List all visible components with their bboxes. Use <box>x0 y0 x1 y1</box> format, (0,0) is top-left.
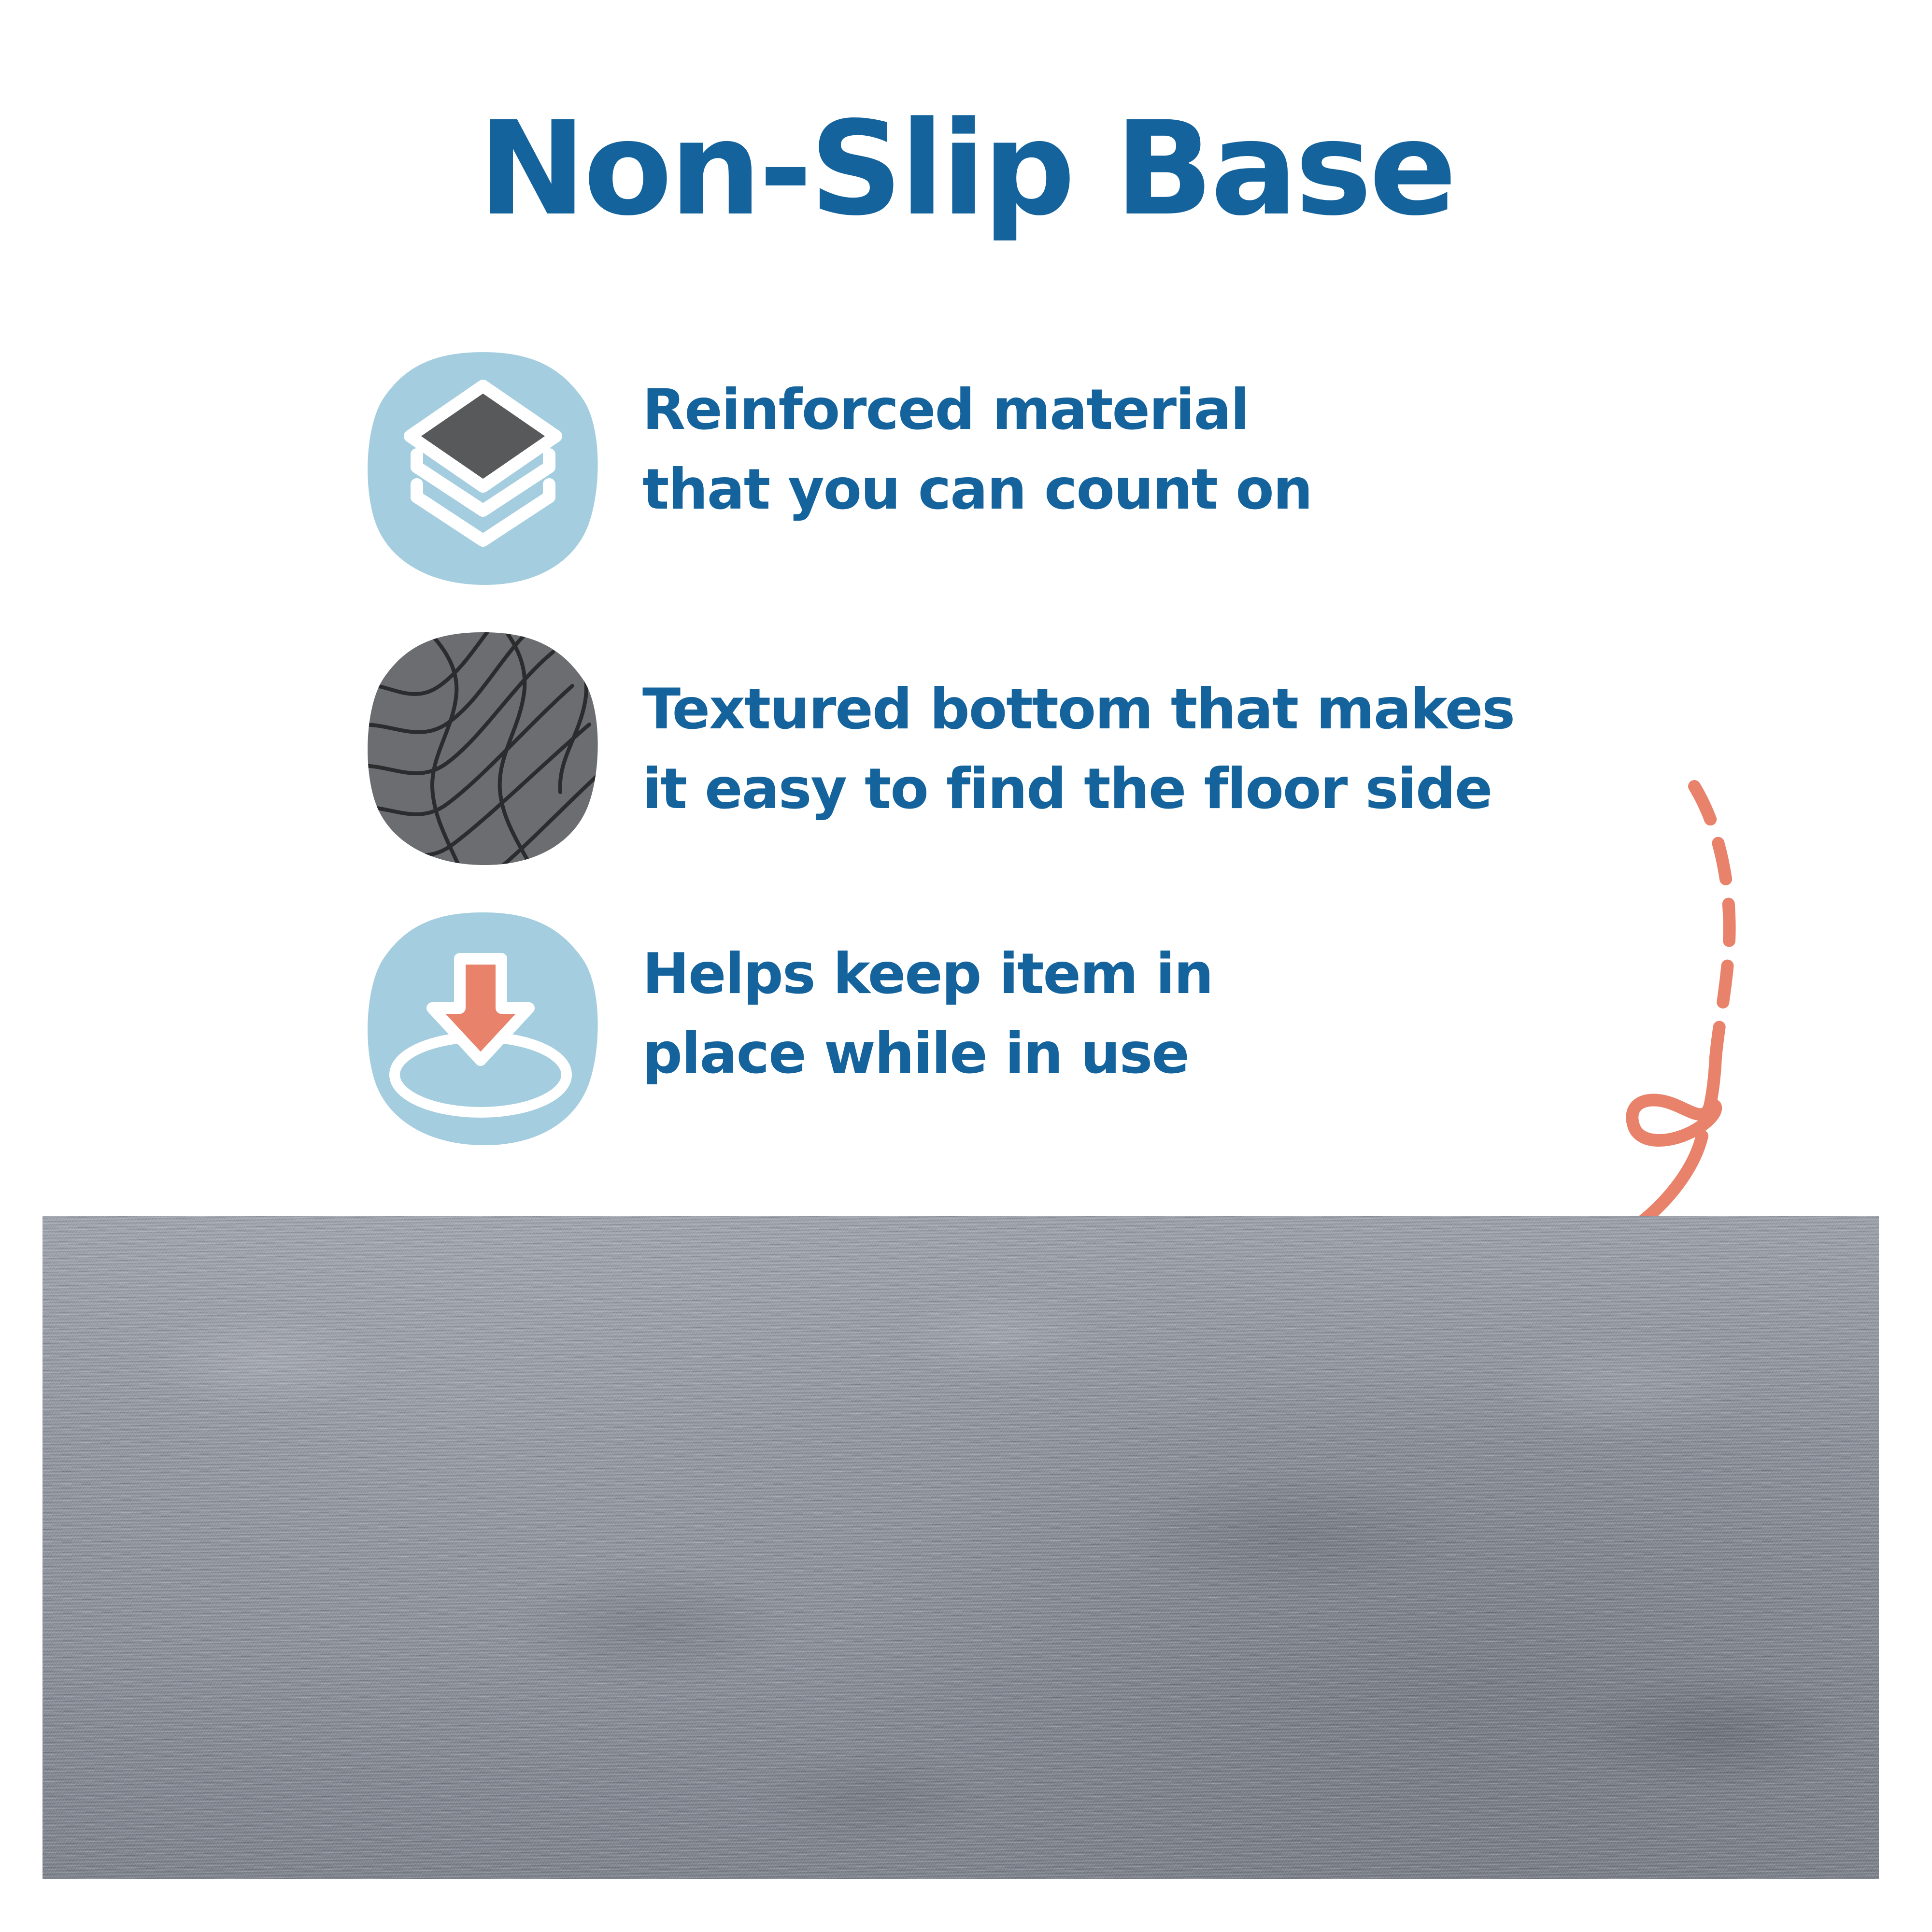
photo-shading-layer <box>43 1216 1879 1879</box>
feature-row: Reinforced material that you can count o… <box>360 345 1664 625</box>
feature-label: Textured bottom that makes it easy to fi… <box>642 670 1514 829</box>
feature-list: Reinforced material that you can count o… <box>360 345 1664 1186</box>
page-title: Non-Slip Base <box>0 101 1932 237</box>
feature-row: Textured bottom that makes it easy to fi… <box>360 625 1664 906</box>
feature-label: Reinforced material that you can count o… <box>642 370 1312 529</box>
feature-label: Helps keep item in place while in use <box>642 935 1213 1094</box>
feature-row: Helps keep item in place while in use <box>360 906 1664 1186</box>
infographic-canvas: Non-Slip Base Reinforce <box>0 0 1932 1932</box>
product-photo: softzone® by ECR4Kids softzone® by ECR4K… <box>43 1216 1879 1879</box>
down-arrow-grip-icon <box>360 906 606 1152</box>
layers-icon <box>360 345 606 592</box>
textured-surface-icon <box>360 625 606 872</box>
